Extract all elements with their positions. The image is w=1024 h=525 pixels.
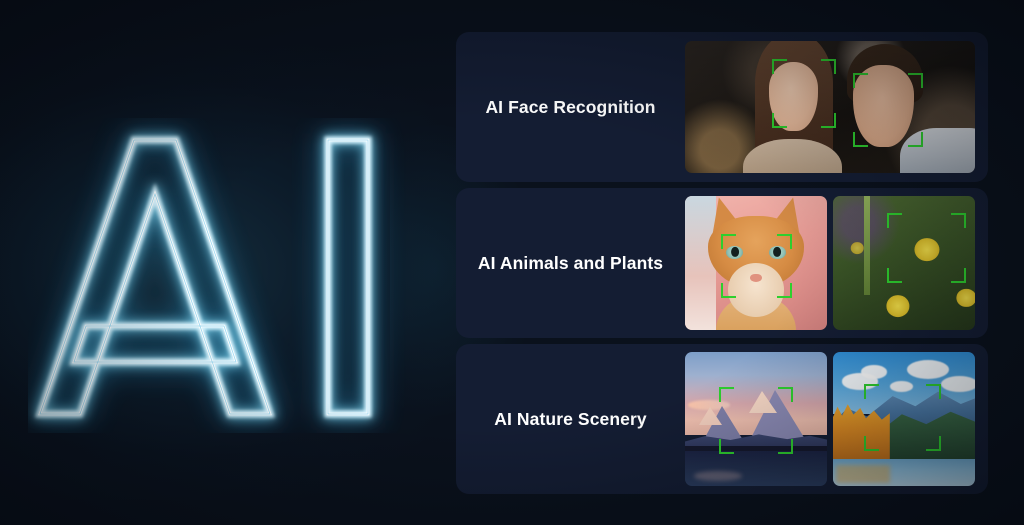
photo-ginger-cat [685, 196, 827, 330]
photo-purple-daisies [833, 196, 975, 330]
photo-autumn-lake-mountains [833, 352, 975, 486]
feature-card-list: AI Face Recognition [456, 32, 988, 494]
feature-card-animals-plants[interactable]: AI Animals and Plants [456, 188, 988, 338]
neon-ai-svg [28, 118, 428, 433]
feature-card-face-recognition[interactable]: AI Face Recognition [456, 32, 988, 182]
scene-couple-night [685, 41, 975, 173]
neon-ai-logo [28, 118, 428, 433]
photo-sunset-mountain-lake [685, 352, 827, 486]
scene-autumn-lake-mountains [833, 352, 975, 486]
card-label: AI Face Recognition [456, 32, 685, 182]
photo-couple-night [685, 41, 975, 173]
card-label: AI Animals and Plants [456, 188, 685, 338]
scene-sunset-mountain-lake [685, 352, 827, 486]
feature-card-nature-scenery[interactable]: AI Nature Scenery [456, 344, 988, 494]
card-media [685, 188, 988, 338]
card-label: AI Nature Scenery [456, 344, 685, 494]
ai-feature-banner: AI Face Recognition [0, 0, 1024, 525]
scene-purple-daisies [833, 196, 975, 330]
scene-ginger-cat [685, 196, 827, 330]
card-media [685, 344, 988, 494]
card-media [685, 32, 988, 182]
